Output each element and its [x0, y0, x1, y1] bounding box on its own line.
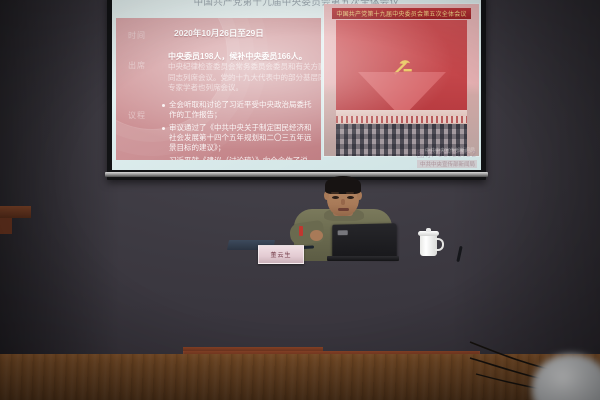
slide-footer-number: 图示 00:00:52 — [417, 149, 477, 160]
bullet-dot-icon — [162, 127, 165, 130]
slide-tab-time: 时间 — [128, 30, 146, 41]
desk-nameplate-text: 董云生 — [270, 250, 291, 259]
slide-bullet-text-1: 全会听取和讨论了习近平受中央政治局委托作的工作报告； — [169, 100, 318, 120]
desk-nameplate: 董云生 — [258, 245, 304, 264]
bullet-dot-icon — [162, 104, 165, 107]
inset-photo-stage-rail — [336, 116, 467, 123]
slide-inset-photo: 中国共产党第十九届中央委员会第五次全体会议 中共中央宣传部新闻局 — [324, 4, 479, 156]
wall-shelf-bracket — [0, 218, 12, 234]
slide-bullet-item: 习近平就《建议（讨论稿）》向全会作了说明。 — [162, 156, 318, 160]
slide-paragraph: 中央委员198人，候补中央委员166人。 中央纪律检查委员会常务委员会委员和有关… — [168, 51, 316, 94]
presenter-mouth — [338, 208, 349, 211]
slide-text-panel: 时间 出席 议程 2020年10月26日至29日 中央委员198人，候补中央委员… — [116, 18, 321, 160]
slide-tab-agenda: 议程 — [128, 110, 146, 121]
photo-scene: 中国共产党第十九届中央委员会第五次全体会议 时间 出席 议程 2020年10月2… — [0, 0, 600, 400]
projection-screen-bottom-bar — [105, 172, 488, 177]
presenter-nose — [341, 199, 345, 205]
inset-photo-banner: 中国共产党第十九届中央委员会第五次全体会议 — [332, 8, 471, 19]
slide-paragraph-line-2: 同志列席会议。党的十九大代表中的部分基层同志和 — [168, 73, 316, 84]
slide-bullet-text-3: 习近平就《建议（讨论稿）》向全会作了说明。 — [169, 156, 318, 160]
slide-bullet-text-2: 审议通过了《中共中央关于制定国民经济和社会发展第十四个五年规划和二〇三五年远景目… — [169, 123, 318, 153]
presenter-brow-right — [346, 192, 354, 194]
presenter-hand — [310, 230, 323, 241]
presenter-eye-right — [347, 196, 354, 199]
wall-shadow-left — [0, 0, 120, 362]
slide-footer: 图示 00:00:52 中共中央宣传部新闻局 — [417, 149, 477, 168]
laptop-screen — [332, 223, 396, 259]
presenter-eye-left — [332, 196, 339, 199]
slide-paragraph-strong: 中央委员198人，候补中央委员166人。 — [168, 51, 316, 62]
slide-bullet-item: 审议通过了《中共中央关于制定国民经济和社会发展第十四个五年规划和二〇三五年远景目… — [162, 123, 318, 153]
slide-bullet-list: 全会听取和讨论了习近平受中央政治局委托作的工作报告； 审议通过了《中共中央关于制… — [162, 100, 318, 160]
slide-tab-attendance: 出席 — [128, 60, 146, 71]
presenter-brow-left — [331, 192, 339, 194]
red-lapel-pin-icon — [299, 226, 303, 236]
wall-shelf — [0, 206, 31, 218]
slide-paragraph-line-1: 中央纪律检查委员会常务委员会委员和有关方面负责 — [168, 62, 316, 73]
inset-photo-backdrop — [336, 20, 467, 110]
laptop-base — [327, 256, 399, 261]
slide-date-range: 2020年10月26日至29日 — [174, 27, 264, 39]
slide-paragraph-line-3: 专家学者也列席会议。 — [168, 83, 316, 94]
slide-bullet-item: 全会听取和讨论了习近平受中央政治局委托作的工作报告； — [162, 100, 318, 120]
projection-screen: 中国共产党第十九届中央委员会第五次全体会议 时间 出席 议程 2020年10月2… — [112, 0, 481, 170]
laptop-brand-logo-icon — [338, 230, 348, 235]
tea-cup-knob — [426, 228, 431, 232]
slide-footer-org: 中共中央宣传部新闻局 — [417, 160, 477, 168]
